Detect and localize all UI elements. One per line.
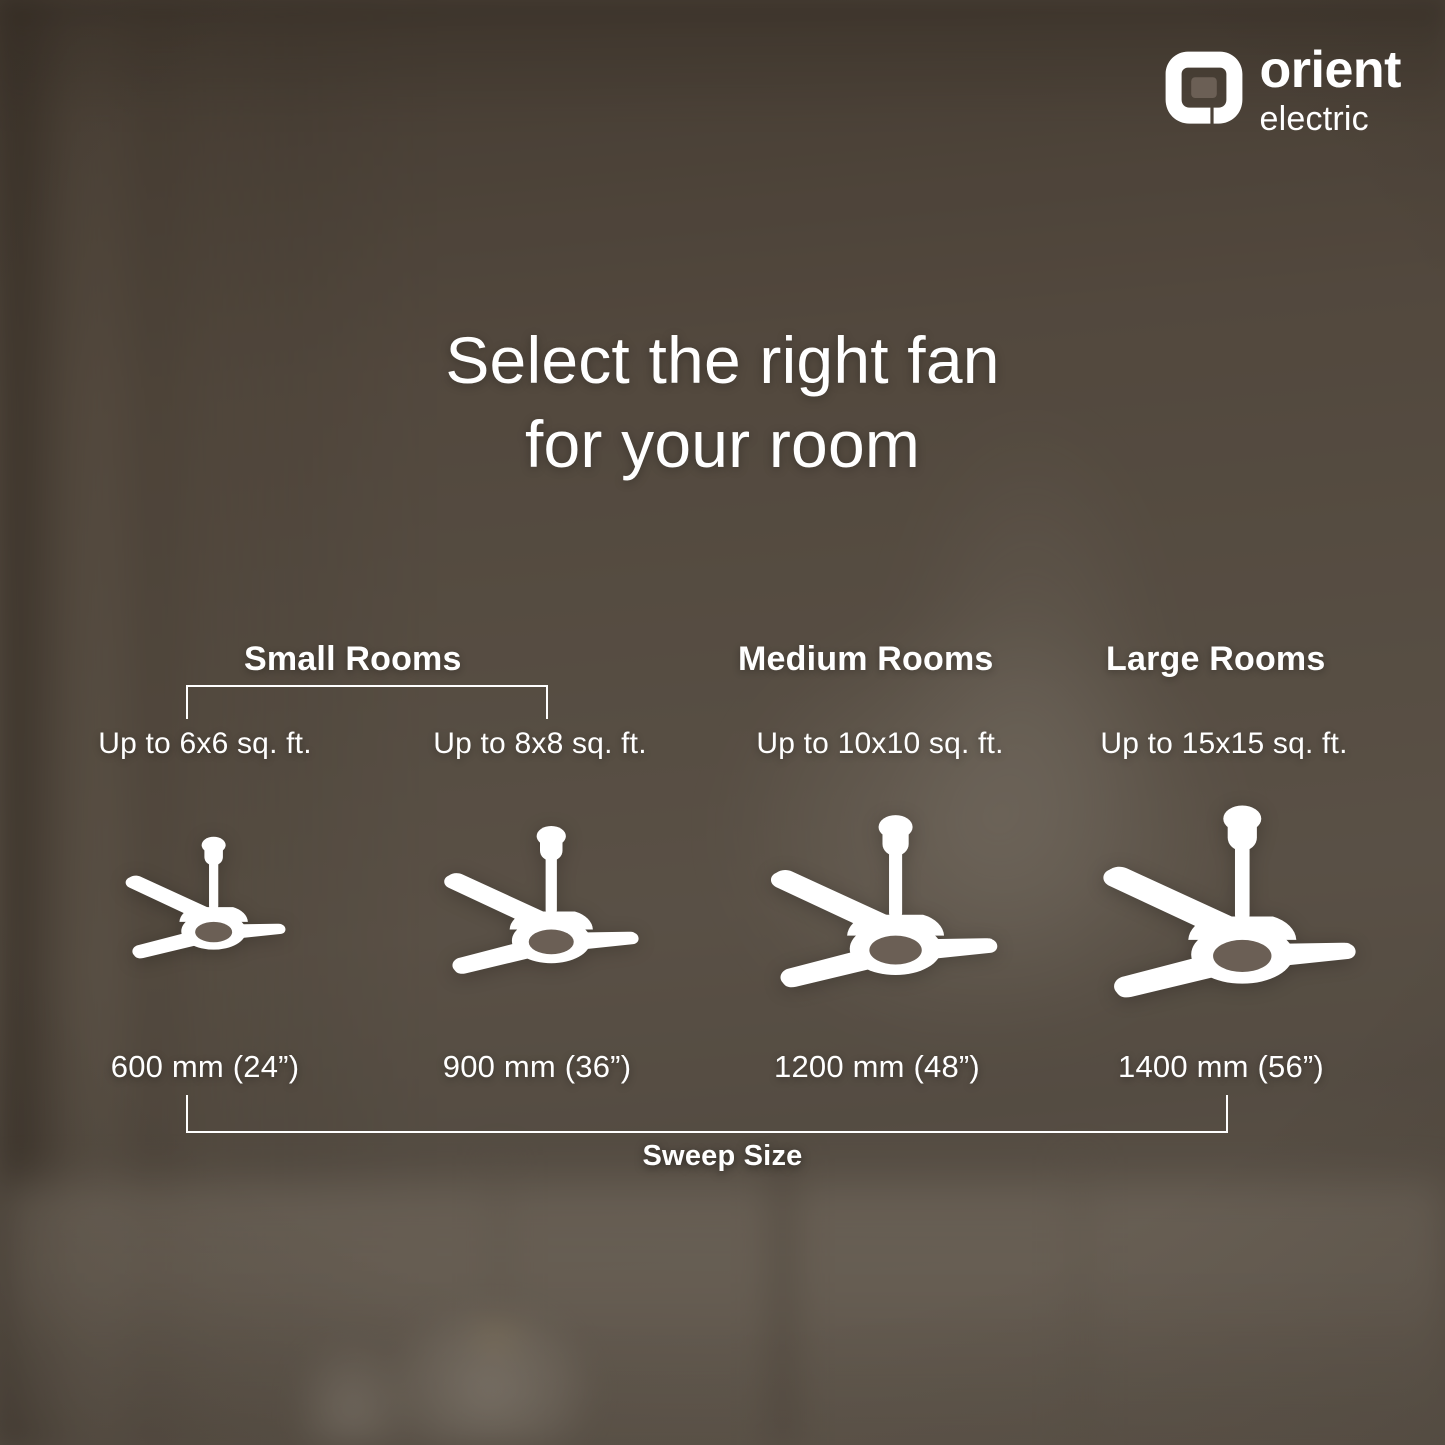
sweep-label-column-4: 1400 mm (56”) [1118, 1049, 1324, 1085]
ceiling-fan-icon-column-4 [1070, 782, 1362, 1016]
group-header-small-rooms: Small Rooms [244, 640, 462, 679]
sweep-label-column-2: 900 mm (36”) [443, 1049, 631, 1085]
area-label-column-3: Up to 10x10 sq. ft. [756, 727, 1003, 761]
page-title: Select the right fan for your room [0, 318, 1445, 487]
sweep-size-caption: Sweep Size [0, 1140, 1445, 1173]
small-rooms-group-bracket-icon [186, 685, 548, 719]
area-label-column-2: Up to 8x8 sq. ft. [433, 727, 647, 761]
brand-name-primary: orient [1260, 44, 1401, 96]
ceiling-fan-icon-column-1 [105, 822, 290, 970]
ceiling-fan-icon-column-3 [741, 794, 1003, 1004]
dimension-bracket-icon [186, 1095, 1228, 1133]
group-header-large-rooms: Large Rooms [1106, 640, 1325, 679]
brand-name-secondary: electric [1260, 102, 1401, 136]
area-label-column-1: Up to 6x6 sq. ft. [98, 727, 312, 761]
page-title-line-2: for your room [0, 402, 1445, 486]
brand-logo: orient electric [1164, 44, 1401, 136]
area-label-column-4: Up to 15x15 sq. ft. [1100, 727, 1347, 761]
brand-wordmark: orient electric [1260, 44, 1401, 136]
infographic-canvas: orient electric Select the right fan for… [0, 0, 1445, 1445]
group-header-medium-rooms: Medium Rooms [738, 640, 994, 679]
sweep-label-column-3: 1200 mm (48”) [774, 1049, 980, 1085]
orient-q-logo-icon [1164, 50, 1244, 130]
ceiling-fan-icon-column-2 [419, 808, 644, 988]
sweep-label-column-1: 600 mm (24”) [111, 1049, 299, 1085]
page-title-line-1: Select the right fan [445, 323, 999, 397]
